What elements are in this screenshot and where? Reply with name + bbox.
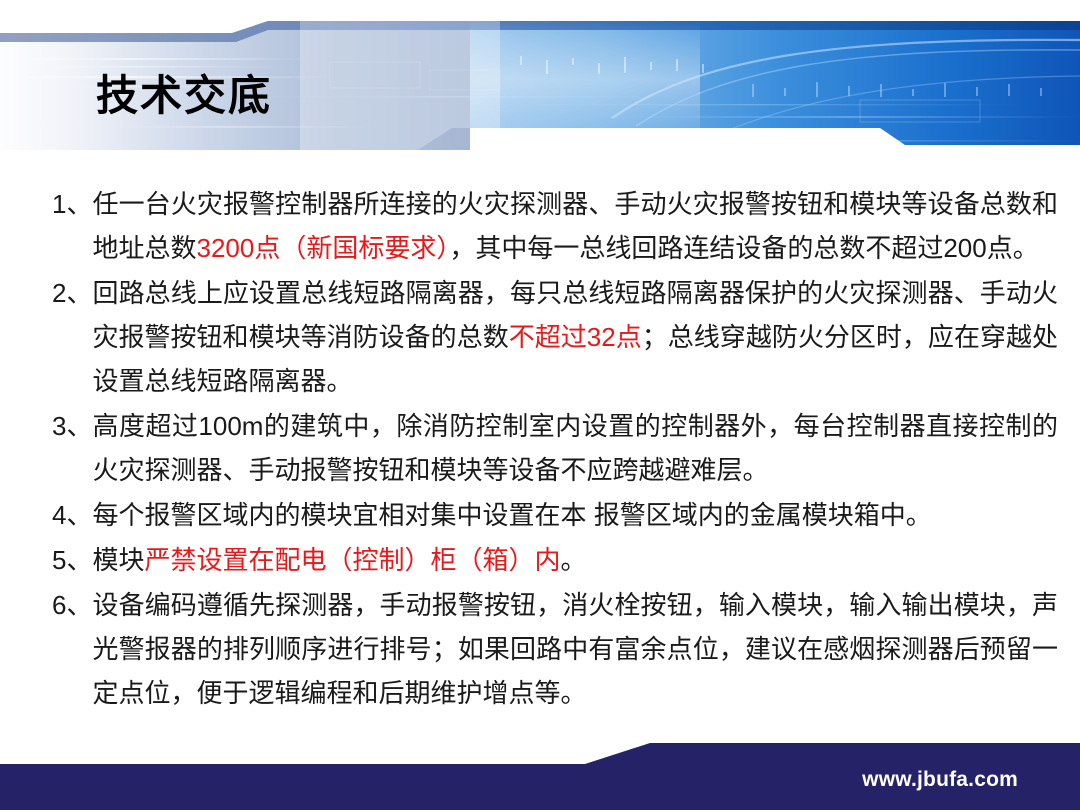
body-text: 模块 bbox=[92, 545, 144, 575]
list-item-number: 6、 bbox=[52, 583, 92, 627]
body-text: 。 bbox=[561, 545, 587, 575]
highlighted-text: 不超过32点 bbox=[509, 322, 642, 352]
list-item-text: 高度超过100m的建筑中，除消防控制室内设置的控制器外，每台控制器直接控制的火灾… bbox=[92, 404, 1058, 492]
highlighted-text: 3200点（新国标要求） bbox=[196, 233, 449, 263]
list-item-text: 设备编码遵循先探测器，手动报警按钮，消火栓按钮，输入模块，输入输出模块，声光警报… bbox=[92, 583, 1058, 715]
header-banner: 技术交底 bbox=[0, 0, 1080, 175]
list-item: 4、每个报警区域内的模块宜相对集中设置在本 报警区域内的金属模块箱中。 bbox=[0, 493, 1080, 537]
list-item: 6、设备编码遵循先探测器，手动报警按钮，消火栓按钮，输入模块，输入输出模块，声光… bbox=[0, 583, 1080, 715]
list-item-number: 4、 bbox=[52, 493, 92, 537]
list-item-text: 回路总线上应设置总线短路隔离器，每只总线短路隔离器保护的火灾探测器、手动火灾报警… bbox=[92, 271, 1058, 403]
list-item-text: 每个报警区域内的模块宜相对集中设置在本 报警区域内的金属模块箱中。 bbox=[92, 493, 1058, 537]
list-item-number: 3、 bbox=[52, 404, 92, 448]
highlighted-text: 严禁设置在配电（控制）柜（箱）内 bbox=[144, 545, 560, 575]
body-text: ，其中每一总线回路连结设备的总数不超过200点。 bbox=[449, 233, 1038, 263]
body-text: 设备编码遵循先探测器，手动报警按钮，消火栓按钮，输入模块，输入输出模块，声光警报… bbox=[92, 590, 1058, 708]
list-item-number: 2、 bbox=[52, 271, 92, 315]
list-item-text: 任一台火灾报警控制器所连接的火灾探测器、手动火灾报警按钮和模块等设备总数和地址总… bbox=[92, 182, 1058, 270]
list-item-number: 1、 bbox=[52, 182, 92, 226]
body-text: 高度超过100m的建筑中，除消防控制室内设置的控制器外，每台控制器直接控制的火灾… bbox=[92, 411, 1058, 485]
page-title: 技术交底 bbox=[96, 62, 272, 123]
footer-bar: www.jbufa.com bbox=[0, 740, 1080, 810]
body-text: 每个报警区域内的模块宜相对集中设置在本 报警区域内的金属模块箱中。 bbox=[92, 500, 931, 530]
list-item: 5、模块严禁设置在配电（控制）柜（箱）内。 bbox=[0, 538, 1080, 582]
list-item: 3、高度超过100m的建筑中，除消防控制室内设置的控制器外，每台控制器直接控制的… bbox=[0, 404, 1080, 492]
list-item: 1、任一台火灾报警控制器所连接的火灾探测器、手动火灾报警按钮和模块等设备总数和地… bbox=[0, 182, 1080, 270]
slide-content: 1、任一台火灾报警控制器所连接的火灾探测器、手动火灾报警按钮和模块等设备总数和地… bbox=[0, 182, 1080, 716]
list-item-text: 模块严禁设置在配电（控制）柜（箱）内。 bbox=[92, 538, 1058, 582]
list-item-number: 5、 bbox=[52, 538, 92, 582]
footer-url[interactable]: www.jbufa.com bbox=[862, 768, 1018, 792]
list-item: 2、回路总线上应设置总线短路隔离器，每只总线短路隔离器保护的火灾探测器、手动火灾… bbox=[0, 271, 1080, 403]
